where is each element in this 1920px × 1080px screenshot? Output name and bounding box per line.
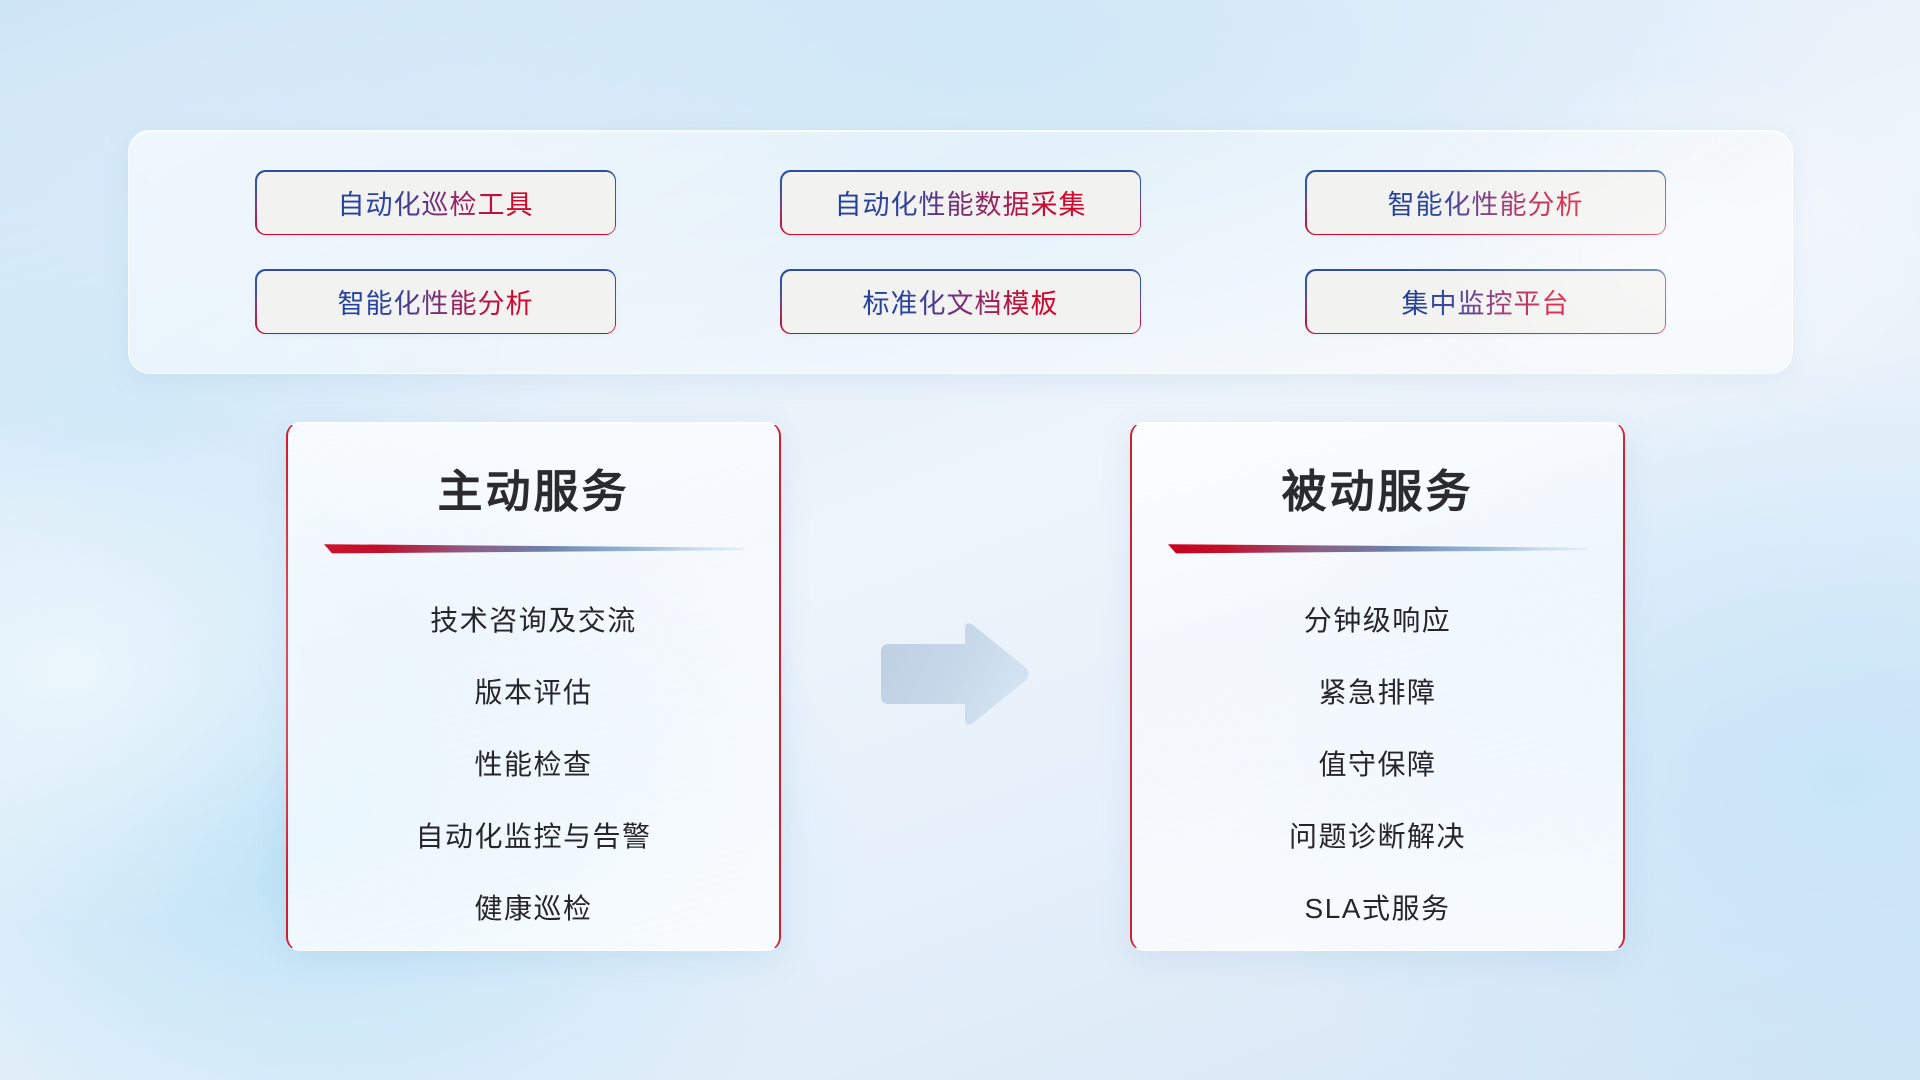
list-item: 自动化监控与告警: [415, 801, 651, 873]
capability-tag[interactable]: 智能化性能分析: [257, 271, 615, 333]
list-item: 健康巡检: [474, 873, 592, 945]
capability-tag[interactable]: 自动化巡检工具: [257, 172, 615, 234]
list-item: 版本评估: [474, 657, 592, 729]
capability-tag[interactable]: 标准化文档模板: [782, 271, 1140, 333]
list-item: 技术咨询及交流: [430, 585, 637, 657]
list-item: 紧急排障: [1318, 657, 1436, 729]
service-card-reactive: 被动服务 分钟级响应 紧急排障: [1130, 422, 1625, 951]
capability-tags-grid: 自动化巡检工具 自动化性能数据采集 智能化性能分析 智能化性能分析 标准化文档模…: [129, 131, 1792, 373]
capability-tag[interactable]: 智能化性能分析: [1307, 172, 1665, 234]
capability-tag[interactable]: 集中监控平台: [1307, 271, 1665, 333]
capability-tag-label: 自动化性能数据采集: [835, 183, 1087, 222]
card-title: 被动服务: [1132, 455, 1623, 520]
capability-tags-panel: 自动化巡检工具 自动化性能数据采集 智能化性能分析 智能化性能分析 标准化文档模…: [128, 130, 1793, 374]
list-item: 问题诊断解决: [1289, 801, 1466, 873]
service-item-list: 分钟级响应 紧急排障 值守保障 问题诊断解决 SLA式服务: [1132, 585, 1623, 945]
list-item: SLA式服务: [1305, 873, 1451, 945]
capability-tag-label: 自动化巡检工具: [338, 183, 534, 222]
list-item: 值守保障: [1318, 729, 1436, 801]
diagram-canvas: 自动化巡检工具 自动化性能数据采集 智能化性能分析 智能化性能分析 标准化文档模…: [0, 0, 1920, 1080]
list-item: 分钟级响应: [1304, 585, 1452, 657]
card-title: 主动服务: [288, 455, 779, 520]
capability-tag-label: 智能化性能分析: [1388, 183, 1584, 222]
service-card-proactive: 主动服务 技术咨询及交流 版本评估: [286, 422, 781, 951]
capability-tag-label: 智能化性能分析: [338, 282, 534, 321]
capability-tag-label: 标准化文档模板: [863, 282, 1059, 321]
title-divider: [324, 542, 744, 555]
service-item-list: 技术咨询及交流 版本评估 性能检查 自动化监控与告警 健康巡检: [288, 585, 779, 945]
capability-tag-label: 集中监控平台: [1402, 282, 1570, 321]
title-divider: [1168, 542, 1588, 555]
right-arrow-icon: [873, 619, 1033, 729]
capability-tag[interactable]: 自动化性能数据采集: [782, 172, 1140, 234]
list-item: 性能检查: [474, 729, 592, 801]
